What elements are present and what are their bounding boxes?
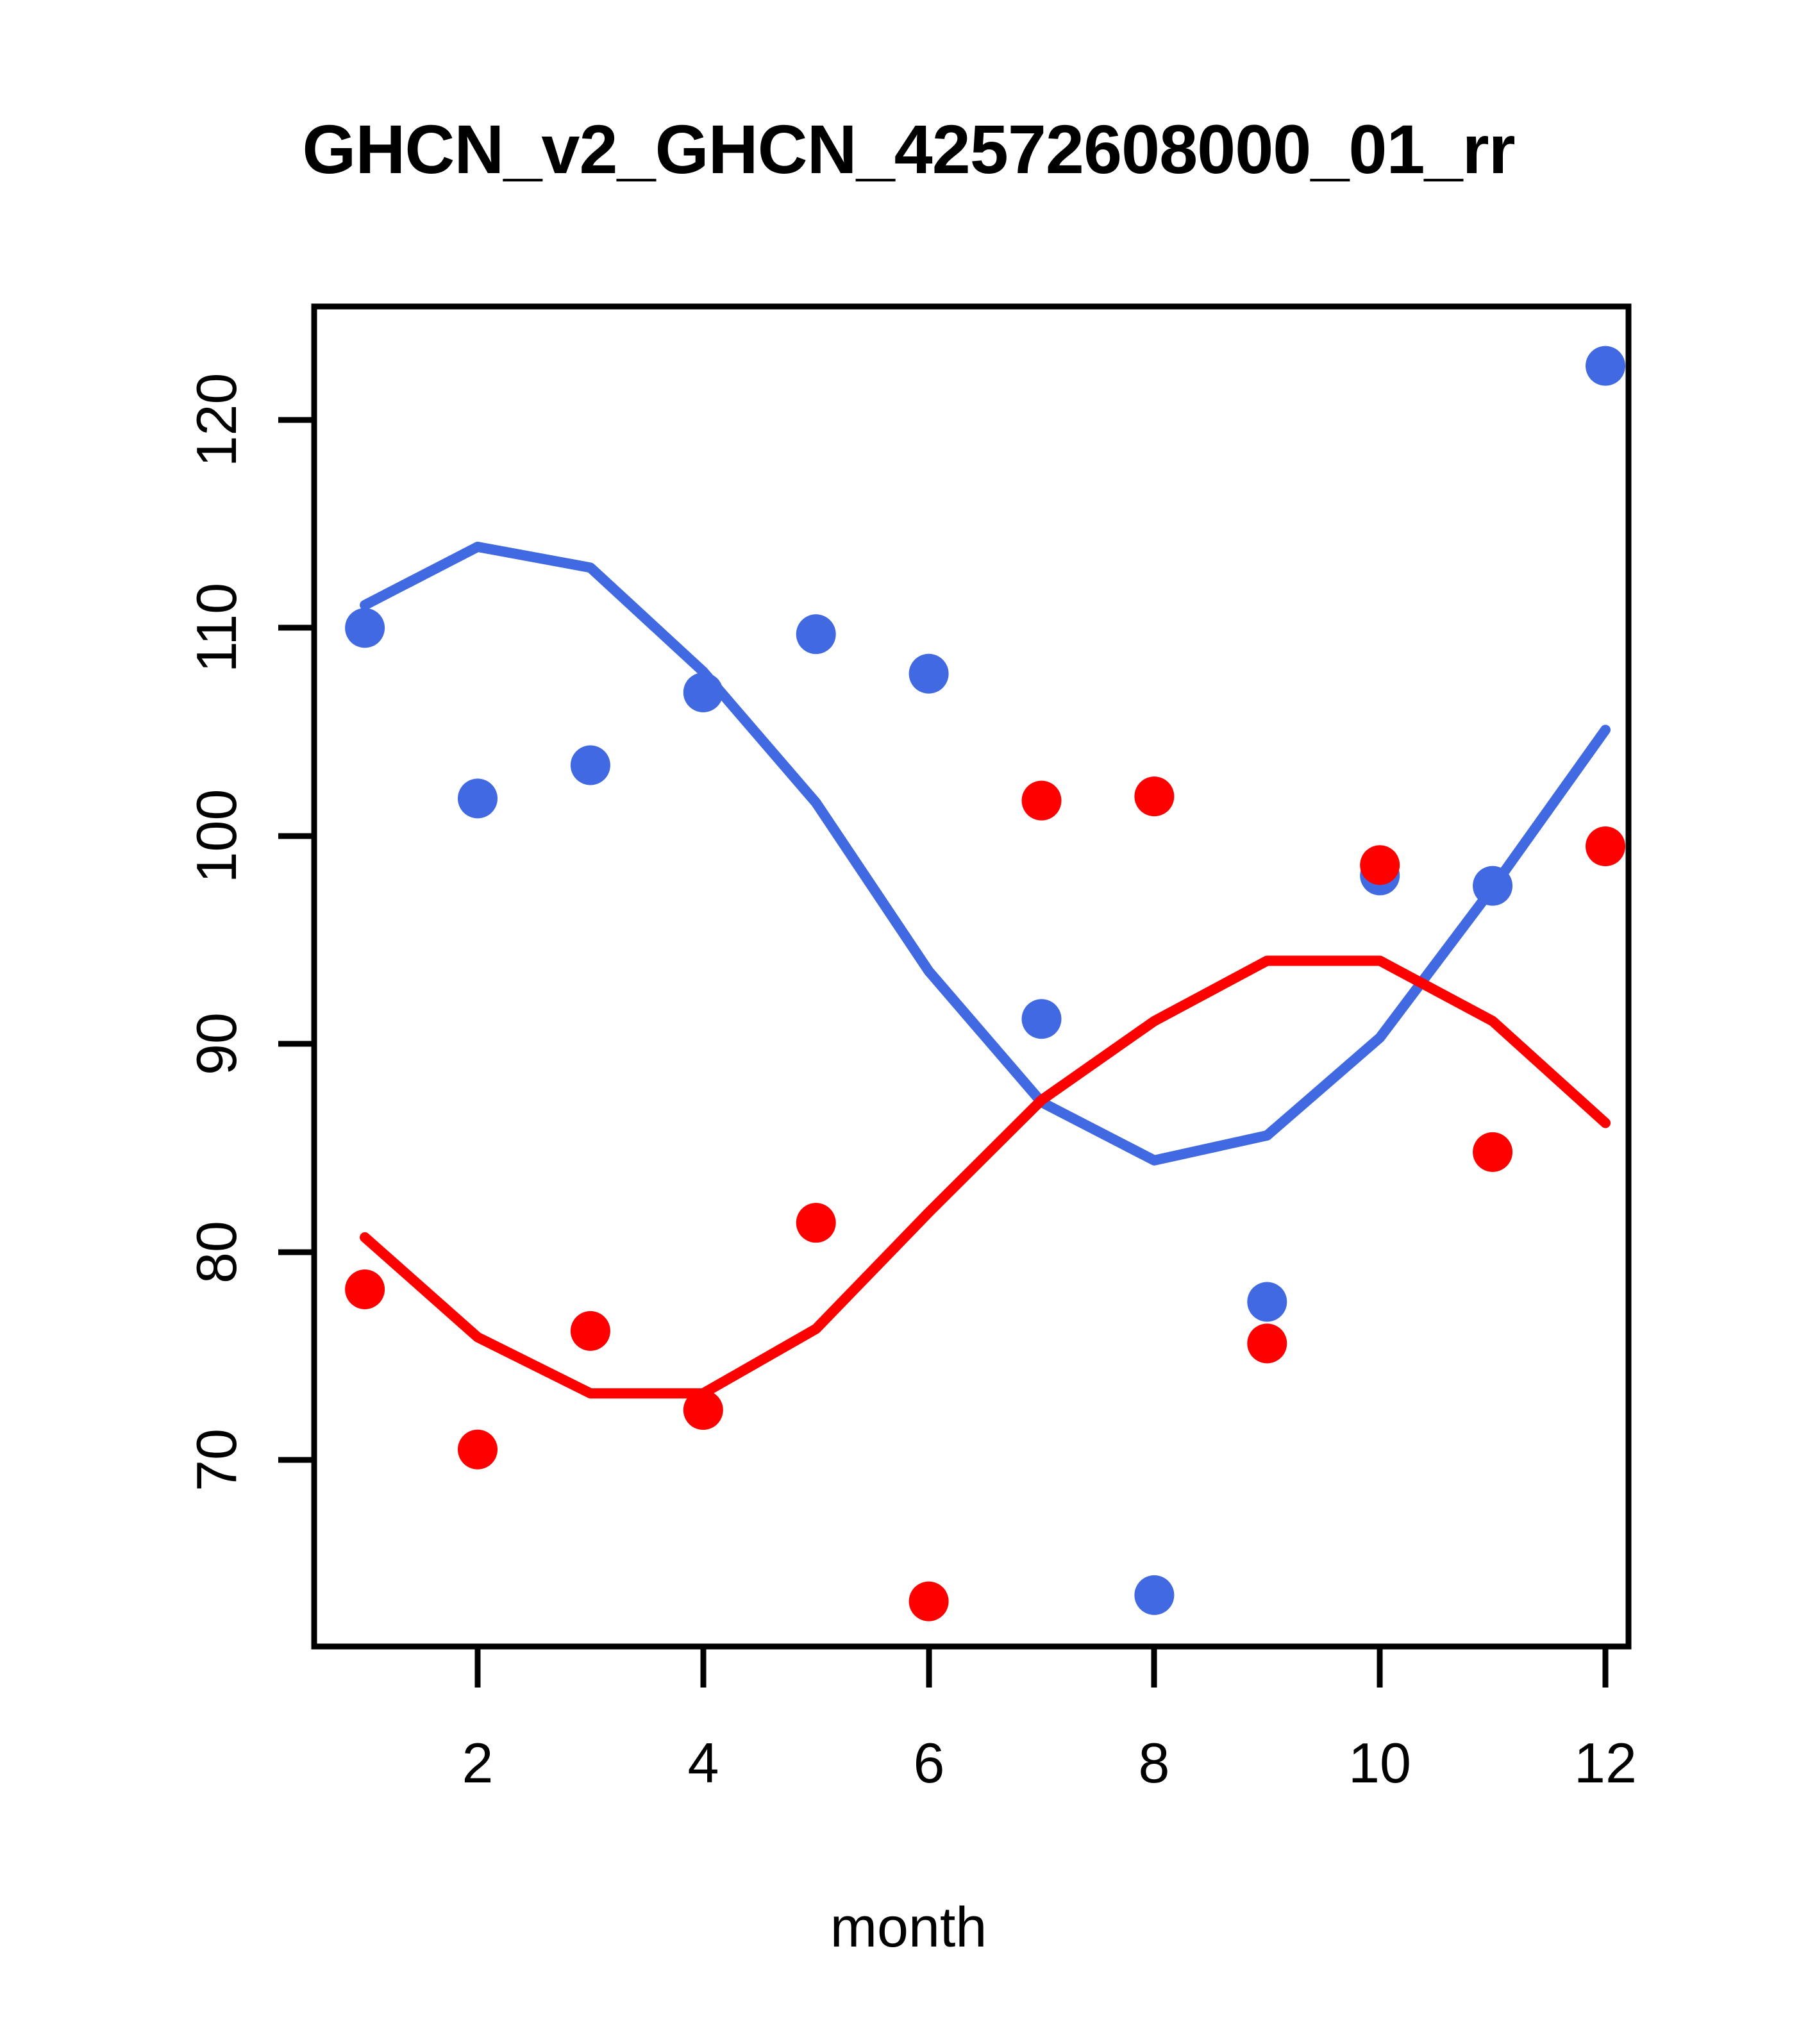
point-blue-points-9 [1247, 1282, 1287, 1321]
point-red-points-7 [1022, 781, 1062, 821]
y-tick-label-120: 120 [185, 373, 248, 467]
point-blue-points-1 [345, 608, 385, 648]
series-blue-line [365, 547, 1605, 1160]
data-series-layer [345, 346, 1625, 1621]
series-blue-points [345, 346, 1625, 1615]
x-axis-ticks [478, 1646, 1605, 1688]
y-tick-label-110: 110 [185, 583, 248, 673]
point-blue-points-12 [1586, 346, 1625, 386]
point-blue-points-6 [909, 654, 949, 694]
y-axis-tick-labels: 120 110 100 90 80 70 [185, 373, 248, 1491]
point-blue-points-3 [571, 746, 610, 785]
point-red-points-12 [1586, 826, 1625, 866]
point-red-points-5 [796, 1203, 836, 1243]
x-tick-label-8: 8 [1139, 1731, 1170, 1795]
point-blue-points-8 [1134, 1575, 1174, 1615]
point-red-points-3 [571, 1311, 610, 1351]
point-blue-points-5 [796, 614, 836, 654]
point-red-points-9 [1247, 1323, 1287, 1363]
x-tick-label-6: 6 [914, 1731, 945, 1795]
x-axis-title: month [0, 1895, 1817, 1960]
y-tick-label-90: 90 [185, 1012, 248, 1075]
x-tick-label-10: 10 [1348, 1731, 1411, 1795]
y-tick-label-80: 80 [185, 1221, 248, 1284]
chart-page: GHCN_v2_GHCN_42572608000_01_rr 120 110 1… [0, 0, 1817, 2044]
point-red-points-10 [1360, 845, 1400, 885]
x-axis-tick-labels: 2 4 6 8 10 12 [462, 1731, 1637, 1795]
x-tick-label-12: 12 [1574, 1731, 1637, 1795]
line-blue-line [365, 547, 1605, 1160]
x-tick-label-4: 4 [688, 1731, 719, 1795]
chart-canvas: 120 110 100 90 80 70 2 4 6 8 10 12 [0, 0, 1817, 2044]
point-blue-points-2 [458, 778, 498, 818]
y-axis-ticks [278, 420, 314, 1460]
point-red-points-6 [909, 1582, 949, 1621]
point-red-points-1 [345, 1269, 385, 1309]
x-tick-label-2: 2 [462, 1731, 494, 1795]
point-red-points-8 [1134, 776, 1174, 816]
line-red-line [365, 960, 1605, 1393]
y-tick-label-100: 100 [185, 789, 248, 884]
y-tick-label-70: 70 [185, 1428, 248, 1491]
point-blue-points-7 [1022, 999, 1062, 1039]
series-red-points [345, 776, 1625, 1621]
point-red-points-2 [458, 1430, 498, 1470]
series-red-line [365, 960, 1605, 1393]
point-red-points-11 [1473, 1132, 1512, 1172]
